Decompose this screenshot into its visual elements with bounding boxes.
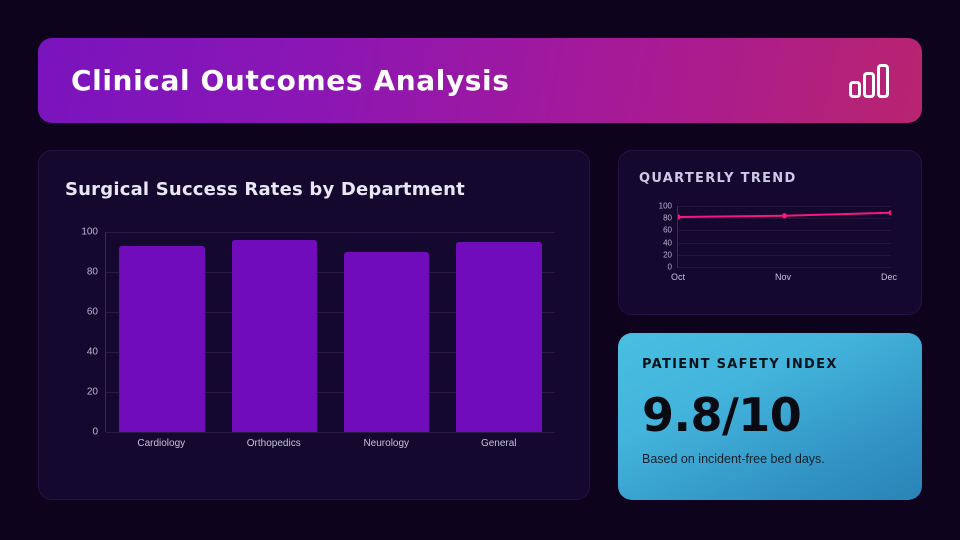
y-tick-label: 60: [663, 226, 672, 235]
patient-safety-index-card: PATIENT SAFETY INDEX 9.8/10 Based on inc…: [618, 333, 922, 500]
patient-safety-index-title: PATIENT SAFETY INDEX: [642, 357, 898, 372]
patient-safety-index-subtitle: Based on incident-free bed days.: [642, 452, 898, 466]
bar-general[interactable]: [456, 242, 541, 432]
bar-column: [119, 232, 204, 432]
x-tick-label-orthopedics: Orthopedics: [231, 438, 317, 449]
y-tick-label: 60: [87, 307, 98, 318]
quarterly-trend-card: QUARTERLY TREND 100 80 60 40 20 0 Oct No…: [618, 150, 922, 315]
x-tick-label-dec: Dec: [881, 272, 897, 282]
bar-column: [344, 232, 429, 432]
x-tick-label-cardiology: Cardiology: [119, 438, 205, 449]
gridline: 0: [678, 267, 891, 268]
patient-safety-index-value: 9.8/10: [642, 392, 898, 438]
surgical-success-card: Surgical Success Rates by Department 100…: [38, 150, 590, 500]
dashboard-root: Clinical Outcomes Analysis Surgical Succ…: [0, 0, 960, 540]
gridline: 0: [106, 432, 555, 433]
y-tick-label: 20: [87, 387, 98, 398]
page-title: Clinical Outcomes Analysis: [71, 64, 510, 97]
x-tick-label-oct: Oct: [671, 272, 685, 282]
y-tick-label: 40: [87, 347, 98, 358]
x-tick-label-nov: Nov: [775, 272, 791, 282]
surgical-success-title: Surgical Success Rates by Department: [65, 179, 563, 200]
trend-plot-area: 100 80 60 40 20 0: [677, 206, 891, 268]
bar-column: [456, 232, 541, 432]
x-tick-label-general: General: [456, 438, 542, 449]
bar-neurology[interactable]: [344, 252, 429, 432]
bar-column: [232, 232, 317, 432]
bar-orthopedics[interactable]: [232, 240, 317, 432]
y-tick-label: 100: [659, 202, 672, 211]
trend-data-point[interactable]: [678, 214, 681, 219]
y-tick-label: 0: [668, 263, 672, 272]
trend-data-point[interactable]: [888, 210, 891, 215]
bar-chart-plot-area: 100 80 60 40 20 0: [105, 232, 555, 432]
y-tick-label: 40: [663, 238, 672, 247]
bar-chart-x-axis: Cardiology Orthopedics Neurology General: [105, 438, 555, 449]
bar-chart-icon: [849, 64, 889, 98]
dashboard-header: Clinical Outcomes Analysis: [38, 38, 922, 123]
trend-chart: 100 80 60 40 20 0 Oct Nov Dec: [639, 202, 901, 294]
y-tick-label: 20: [663, 250, 672, 259]
bar-chart: 100 80 60 40 20 0 Cardiology Orthopedics…: [65, 232, 563, 482]
trend-x-axis: Oct Nov Dec: [677, 272, 891, 282]
trend-data-point[interactable]: [782, 213, 787, 218]
y-tick-label: 100: [81, 227, 98, 238]
bar-series: [106, 232, 555, 432]
y-tick-label: 0: [92, 427, 98, 438]
trend-data-points: [678, 206, 891, 267]
quarterly-trend-title: QUARTERLY TREND: [639, 171, 901, 186]
y-tick-label: 80: [87, 267, 98, 278]
y-tick-label: 80: [663, 214, 672, 223]
x-tick-label-neurology: Neurology: [344, 438, 430, 449]
bar-cardiology[interactable]: [119, 246, 204, 432]
